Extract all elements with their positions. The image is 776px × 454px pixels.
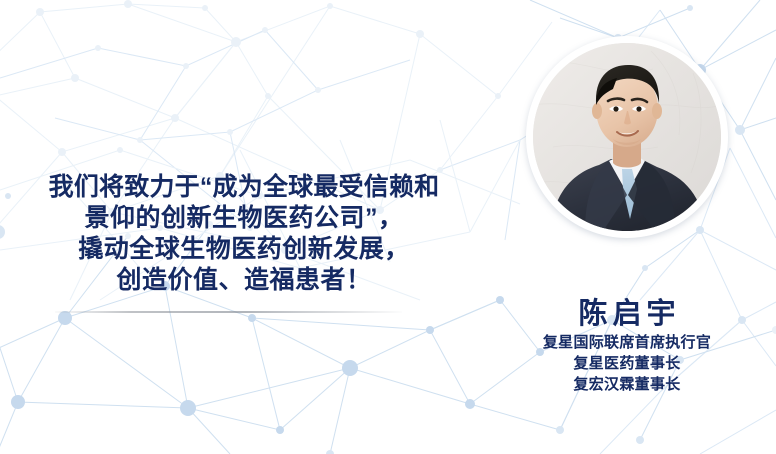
portrait-photo	[533, 43, 721, 231]
person-info-block: 陈启宇 复星国际联席首席执行官 复星医药董事长 复宏汉霖董事长	[478, 296, 776, 395]
quote-line-1: 我们将致力于“成为全球最受信赖和	[18, 172, 470, 203]
quote-line-2: 景仰的创新生物医药公司”，	[18, 203, 470, 234]
quote-block: 我们将致力于“成为全球最受信赖和 景仰的创新生物医药公司”， 撬动全球生物医药创…	[18, 172, 470, 296]
quote-line-4: 创造价值、造福患者！	[18, 265, 470, 296]
person-title-1: 复星国际联席首席执行官	[478, 332, 776, 353]
person-title-3: 复宏汉霖董事长	[478, 374, 776, 395]
person-title-2: 复星医药董事长	[478, 353, 776, 374]
quote-divider-line	[55, 311, 402, 313]
executive-quote-poster: .ln { stroke: #cfe0f0; stroke-width: 1; …	[0, 0, 776, 454]
portrait-container	[526, 36, 728, 238]
person-name: 陈启宇	[478, 296, 776, 332]
quote-line-3: 撬动全球生物医药创新发展，	[18, 234, 470, 265]
